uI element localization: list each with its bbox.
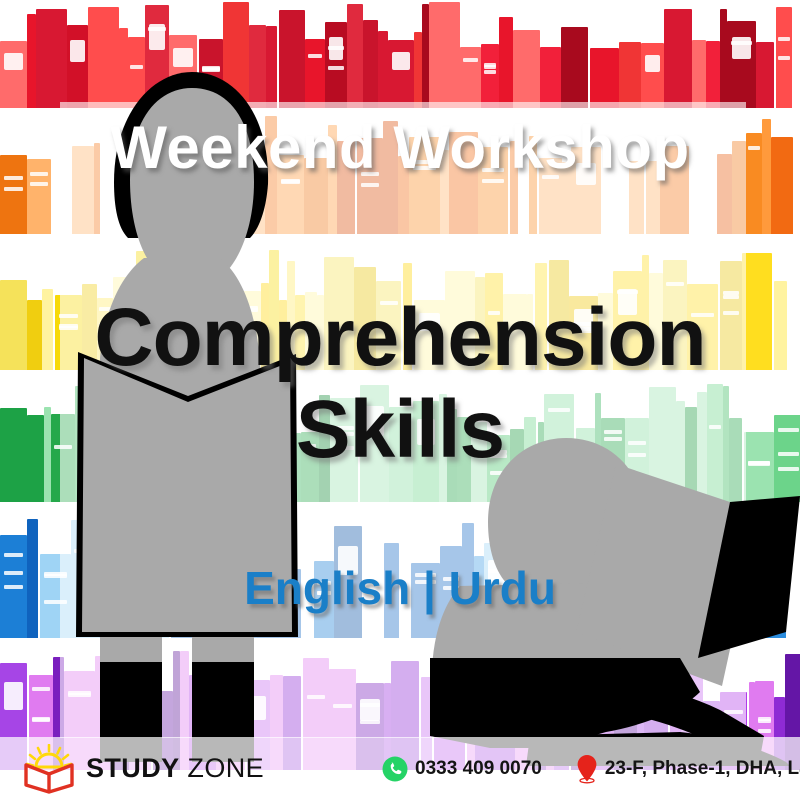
book-spine <box>664 9 692 108</box>
book-spine <box>36 9 67 108</box>
red-shelf <box>0 0 800 108</box>
book-spine <box>499 17 513 108</box>
book-spine <box>378 31 388 108</box>
location-pin-icon[interactable] <box>576 754 598 784</box>
book-spine <box>0 41 27 108</box>
book-spine <box>720 9 727 108</box>
book-spine <box>128 37 145 108</box>
book-spine <box>67 25 88 108</box>
book-spine <box>169 35 197 108</box>
book-spine <box>641 43 664 108</box>
book-spine <box>429 2 460 108</box>
book-spine <box>727 21 756 108</box>
book-spine <box>305 39 325 108</box>
book-spine <box>513 30 540 108</box>
brand-name: STUDY ZONE <box>86 753 264 784</box>
brand-lockup: STUDY ZONE <box>22 744 264 794</box>
poster-canvas: Weekend Workshop Comprehension Skills En… <box>0 0 800 800</box>
book-spine <box>692 40 706 108</box>
whatsapp-icon[interactable] <box>382 756 408 782</box>
book-spine <box>540 47 561 108</box>
book-spine <box>363 20 378 108</box>
phone-contact[interactable]: 0333 409 0070 <box>382 756 542 782</box>
book-spine <box>27 14 36 108</box>
book-spine <box>619 42 641 108</box>
footer-bar: STUDY ZONE 0333 409 0070 23-F, Phase-1, … <box>0 737 800 800</box>
book-spine <box>223 2 249 108</box>
book-spine <box>561 27 588 108</box>
book-spine <box>776 7 792 108</box>
book-spine <box>279 10 305 108</box>
book-spine <box>422 4 429 108</box>
book-spine <box>460 47 481 108</box>
book-spine <box>325 22 347 108</box>
book-spine <box>88 7 119 108</box>
phone-number: 0333 409 0070 <box>415 758 542 780</box>
book-spine <box>347 4 363 108</box>
book-spine <box>249 25 266 108</box>
headline-line-1: Comprehension <box>94 292 705 383</box>
book-spine <box>756 42 774 108</box>
book-spine <box>481 44 499 108</box>
book-spine <box>266 26 277 108</box>
brand-name-light: ZONE <box>187 753 264 783</box>
page-title: Comprehension Skills <box>0 292 800 476</box>
kicker-text: Weekend Workshop <box>0 118 800 178</box>
book-spine <box>199 39 223 108</box>
book-spine <box>388 40 414 108</box>
address-contact[interactable]: 23-F, Phase-1, DHA, Lahore. <box>576 754 800 784</box>
book-spine <box>590 48 619 108</box>
book-spine <box>414 32 422 108</box>
open-book-sunrise-icon <box>22 744 76 794</box>
book-spine <box>145 5 169 108</box>
brand-name-bold: STUDY <box>86 753 180 783</box>
address-text: 23-F, Phase-1, DHA, Lahore. <box>605 758 800 780</box>
book-spine <box>706 41 720 108</box>
book-spine <box>119 28 128 108</box>
headline-line-2: Skills <box>0 384 800 476</box>
subtitle-languages: English | Urdu <box>0 565 800 611</box>
contact-info: 0333 409 0070 23-F, Phase-1, DHA, Lahore… <box>382 754 800 784</box>
